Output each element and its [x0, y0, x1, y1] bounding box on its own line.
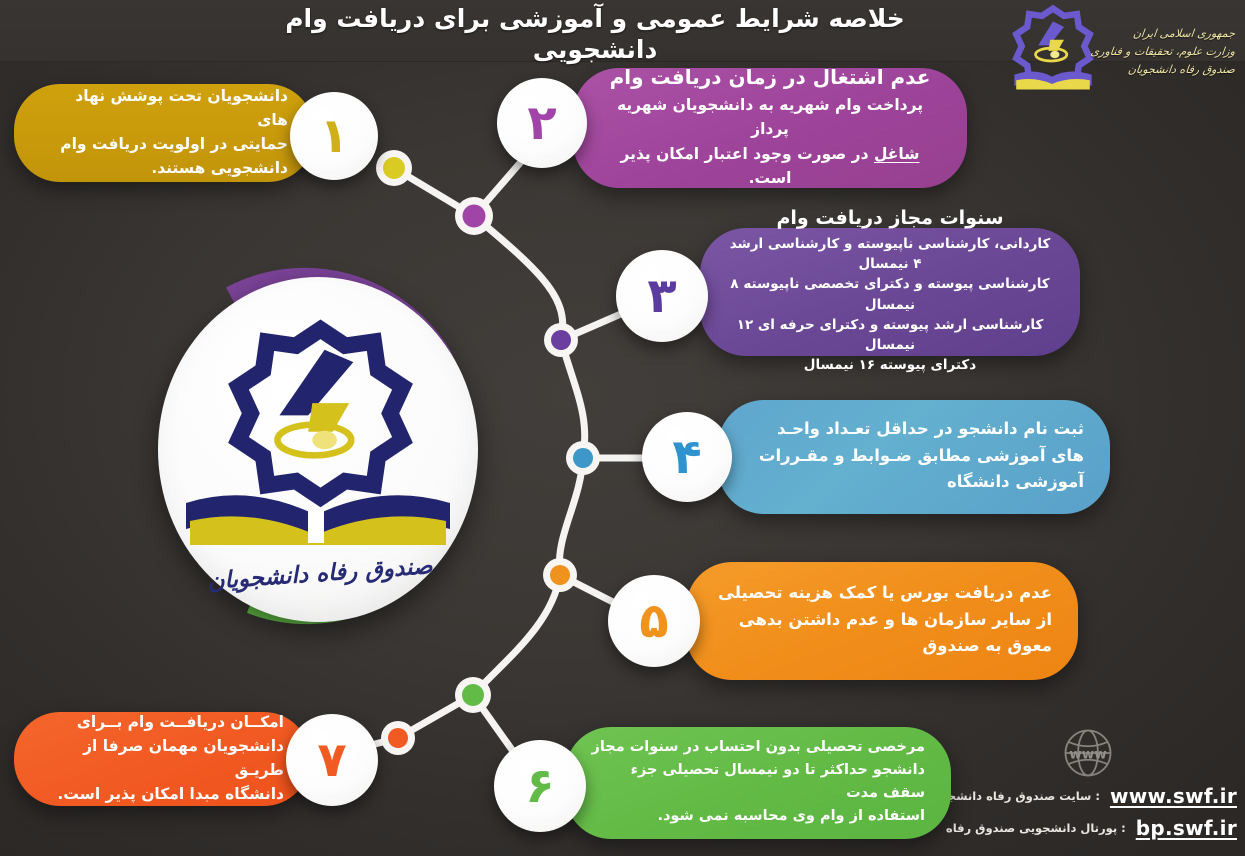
connector-spine-b — [561, 340, 585, 458]
svg-text:www: www — [1069, 746, 1106, 762]
number-badge-5[interactable]: ۵ — [608, 575, 700, 667]
card-3-line-4: دکترای پیوسته ۱۶ نیمسال — [726, 355, 1054, 375]
card-2-line-2-rest: در صورت وجود اعتبار امکان پذیر است. — [621, 145, 869, 187]
card-4-line-3: آموزشی دانشگاه — [744, 469, 1084, 496]
dot-5 — [550, 565, 570, 585]
card-1-line-2: حمایتی در اولویت دریافت وام — [40, 132, 288, 156]
card-6-body: مرخصی تحصیلی بدون احتساب در سنوات مجاز د… — [591, 736, 925, 829]
footer-url-2[interactable]: bp.swf.ir — [1136, 816, 1237, 840]
footer-link-row-2[interactable]: bp.swf.ir : پورتال دانشجویی صندوق رفاه — [946, 816, 1237, 840]
card-7-line-2: دانشجویان مهمان صرفا از طریـق — [40, 734, 284, 782]
footer-link-row-1[interactable]: www.swf.ir : سایت صندوق رفاه دانشجویان — [922, 784, 1237, 808]
card-3-line-1: کاردانی، کارشناسی ناپیوسته و کارشناسی ار… — [726, 234, 1054, 275]
number-badge-6[interactable]: ۶ — [494, 740, 586, 832]
card-4-body: ثبت نام دانشجو در حداقل تعـداد واحـد های… — [744, 416, 1084, 496]
number-badge-7[interactable]: ۷ — [286, 714, 378, 806]
card-4-line-2: های آموزشی مطابق ضـوابط و مقـررات — [744, 443, 1084, 470]
card-2-title: عدم اشتغال در زمان دریافت وام — [599, 64, 941, 90]
dot-2 — [463, 205, 486, 228]
dot-6 — [462, 684, 484, 706]
card-1-body: دانشجویان تحت پوشش نهاد های حمایتی در او… — [40, 84, 288, 180]
card-5-line-1: عدم دریافت بورس یا کمک هزینه تحصیلی — [712, 580, 1052, 607]
dot-3 — [551, 330, 571, 350]
card-7-line-3: دانشگاه مبدا امکان پذیر است. — [40, 782, 284, 806]
card-3-line-3: کارشناسی ارشد پیوسته و دکترای حرفه ای ۱۲… — [726, 315, 1054, 356]
card-3-title: سنوات مجاز دریافت وام — [726, 206, 1054, 231]
card-item-5[interactable]: عدم دریافت بورس یا کمک هزینه تحصیلی از س… — [686, 562, 1078, 680]
card-7-body: امکــان دریافــت وام بــرای دانشجویان مه… — [40, 710, 284, 807]
card-5-body: عدم دریافت بورس یا کمک هزینه تحصیلی از س… — [712, 580, 1052, 660]
footer-links: www www.swf.ir : سایت صندوق رفاه دانشجوی… — [937, 726, 1237, 846]
card-item-3[interactable]: سنوات مجاز دریافت وام کاردانی، کارشناسی … — [700, 228, 1080, 356]
card-item-4[interactable]: ثبت نام دانشجو در حداقل تعـداد واحـد های… — [718, 400, 1110, 514]
card-6-line-1: مرخصی تحصیلی بدون احتساب در سنوات مجاز — [591, 736, 925, 759]
number-badge-4[interactable]: ۴ — [642, 412, 732, 502]
card-6-line-2: دانشجو حداکثر تا دو نیمسال تحصیلی جزء سق… — [591, 759, 925, 805]
number-badge-3[interactable]: ۳ — [616, 250, 708, 342]
dot-4 — [573, 448, 593, 468]
card-item-2[interactable]: عدم اشتغال در زمان دریافت وام پرداخت وام… — [573, 68, 967, 188]
number-badge-1[interactable]: ۱ — [290, 92, 378, 180]
card-2-body: پرداخت وام شهریه به دانشجویان شهریه پردا… — [599, 93, 941, 189]
card-4-line-1: ثبت نام دانشجو در حداقل تعـداد واحـد — [744, 416, 1084, 443]
center-emblem: صندوق رفاه دانشجویان — [145, 255, 495, 645]
dot-7 — [388, 728, 408, 748]
card-3-line-2: کارشناسی پیوسته و دکترای تخصصی ناپیوسته … — [726, 274, 1054, 315]
card-item-7[interactable]: امکــان دریافــت وام بــرای دانشجویان مه… — [14, 712, 310, 806]
card-5-line-2: از سایر سازمان ها و عدم داشتن بدهی — [712, 607, 1052, 634]
globe-www-icon: www — [1061, 726, 1115, 780]
connector-spine-c — [559, 458, 583, 575]
card-2-line-2: شاغل در صورت وجود اعتبار امکان پذیر است. — [599, 142, 941, 190]
number-badge-2[interactable]: ۲ — [497, 78, 587, 168]
card-item-1[interactable]: دانشجویان تحت پوشش نهاد های حمایتی در او… — [14, 84, 314, 182]
card-6-line-3: استفاده از وام وی محاسبه نمی شود. — [591, 805, 925, 828]
card-7-line-1: امکــان دریافــت وام بــرای — [40, 710, 284, 734]
card-1-line-3: دانشجویی هستند. — [40, 156, 288, 180]
card-item-6[interactable]: مرخصی تحصیلی بدون احتساب در سنوات مجاز د… — [565, 727, 951, 839]
footer-label-2: : پورتال دانشجویی صندوق رفاه — [946, 821, 1126, 835]
infographic-canvas: خلاصه شرایط عمومی و آموزشی برای دریافت و… — [0, 0, 1245, 856]
card-1-line-1: دانشجویان تحت پوشش نهاد های — [40, 84, 288, 132]
footer-url-1[interactable]: www.swf.ir — [1110, 784, 1237, 808]
card-3-body: کاردانی، کارشناسی ناپیوسته و کارشناسی ار… — [726, 234, 1054, 376]
card-2-underlined-word: شاغل — [874, 145, 920, 163]
dot-1 — [383, 157, 405, 179]
card-2-line-1: پرداخت وام شهریه به دانشجویان شهریه پردا… — [599, 93, 941, 141]
card-5-line-3: معوق به صندوق — [712, 633, 1052, 660]
